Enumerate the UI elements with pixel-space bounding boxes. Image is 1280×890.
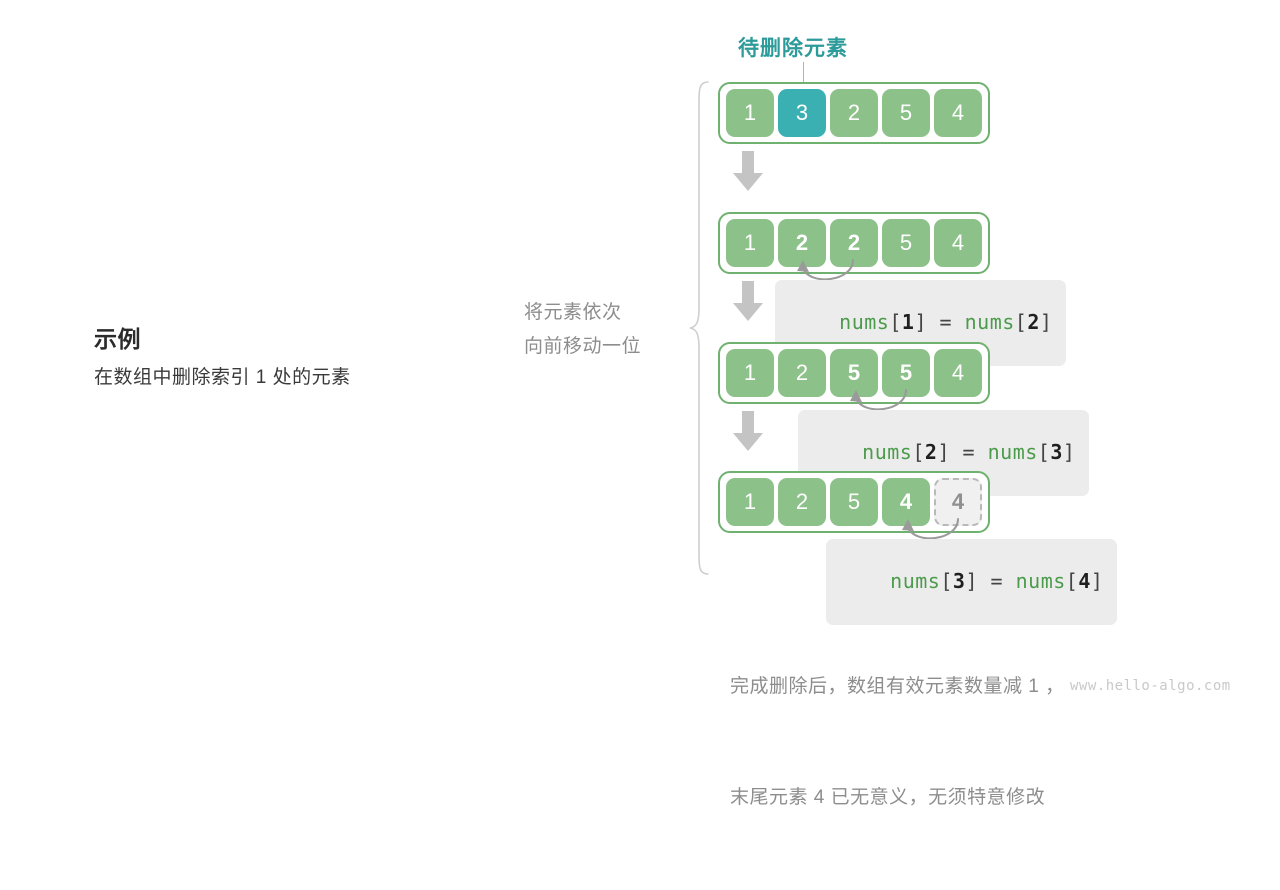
array-cell: 4 (934, 89, 982, 137)
grouping-brace-icon (688, 80, 710, 576)
array-cell: 2 (830, 89, 878, 137)
bottom-note-line1: 完成删除后，数组有效元素数量减 1 ， (730, 668, 1065, 705)
array-row-step-0: 1 3 2 5 4 (718, 82, 990, 144)
array-cell: 5 (882, 89, 930, 137)
code-operator: = (963, 440, 976, 464)
code-lhs-name: nums (890, 569, 940, 593)
bottom-note: 完成删除后，数组有效元素数量减 1 ， 末尾元素 4 已无意义，无须特意修改 (730, 594, 1065, 890)
code-rhs-index: 4 (1078, 569, 1091, 593)
down-arrow-icon (731, 151, 765, 193)
code-operator: = (940, 310, 953, 334)
array-cell: 1 (726, 349, 774, 397)
array-cell-target: 3 (778, 89, 826, 137)
example-caption: 示例 在数组中删除索引 1 处的元素 (94, 322, 514, 394)
shift-annotation-line1: 将元素依次 (524, 296, 684, 330)
caption-subtitle: 在数组中删除索引 1 处的元素 (94, 362, 514, 394)
code-lhs-index: 2 (925, 440, 938, 464)
array-cell: 1 (726, 89, 774, 137)
shift-annotation: 将元素依次 向前移动一位 (524, 296, 684, 364)
code-rhs-index: 3 (1050, 440, 1063, 464)
array-cell: 2 (778, 349, 826, 397)
code-lhs-index: 1 (902, 310, 915, 334)
code-lhs-name: nums (862, 440, 912, 464)
code-rhs-index: 2 (1027, 310, 1040, 334)
down-arrow-icon (731, 411, 765, 453)
down-arrow-icon (731, 281, 765, 323)
watermark: www.hello-algo.com (1070, 678, 1231, 694)
code-rhs-name: nums (988, 440, 1038, 464)
array-cell: 1 (726, 219, 774, 267)
diagram-canvas: 示例 在数组中删除索引 1 处的元素 将元素依次 向前移动一位 待删除元素 1 … (0, 0, 1280, 720)
shift-annotation-line2: 向前移动一位 (524, 330, 684, 364)
array-cell: 2 (778, 478, 826, 526)
array-cell: 4 (934, 219, 982, 267)
caption-title: 示例 (94, 322, 514, 356)
code-lhs-name: nums (839, 310, 889, 334)
code-lhs-index: 3 (953, 569, 966, 593)
array-cell: 1 (726, 478, 774, 526)
code-rhs-name: nums (1016, 569, 1066, 593)
array-cell: 5 (830, 478, 878, 526)
code-rhs-name: nums (965, 310, 1015, 334)
array-cell: 5 (882, 219, 930, 267)
delete-target-title: 待删除元素 (738, 32, 848, 62)
code-operator: = (991, 569, 1004, 593)
array-cell: 4 (934, 349, 982, 397)
bottom-note-line2: 末尾元素 4 已无意义，无须特意修改 (730, 779, 1065, 816)
